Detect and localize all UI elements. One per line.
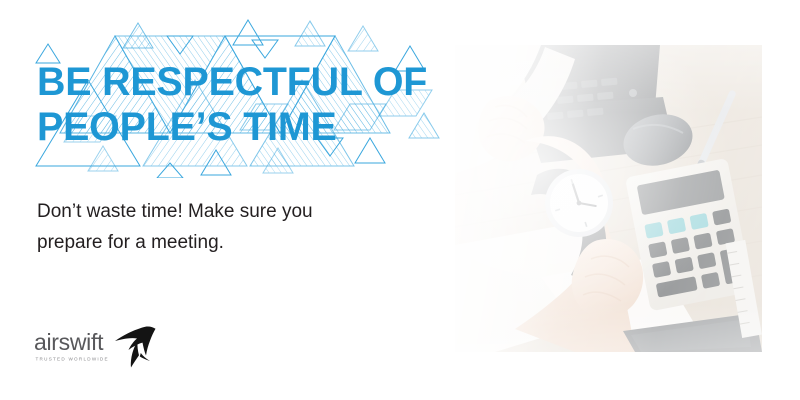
photo-person-checking-wristwatch xyxy=(455,45,762,352)
page-title: BE RESPECTFUL OF PEOPLE’S TIME xyxy=(37,60,457,150)
headline-line-1: BE RESPECTFUL OF xyxy=(37,60,451,105)
slide-canvas: BE RESPECTFUL OF PEOPLE’S TIME Don’t was… xyxy=(0,0,800,400)
airswift-logo: airswift TRUSTED WORLDWIDE xyxy=(33,320,163,370)
swift-bird-icon xyxy=(115,326,156,367)
body-line-1: Don’t waste time! Make sure you xyxy=(37,196,397,227)
logo-tagline: TRUSTED WORLDWIDE xyxy=(36,357,109,362)
logo-wordmark: airswift xyxy=(34,329,104,355)
headline-line-2: PEOPLE’S TIME xyxy=(37,105,451,150)
photo-artwork xyxy=(455,45,762,352)
body-line-2: prepare for a meeting. xyxy=(37,227,397,258)
body-text: Don’t waste time! Make sure you prepare … xyxy=(37,196,397,258)
